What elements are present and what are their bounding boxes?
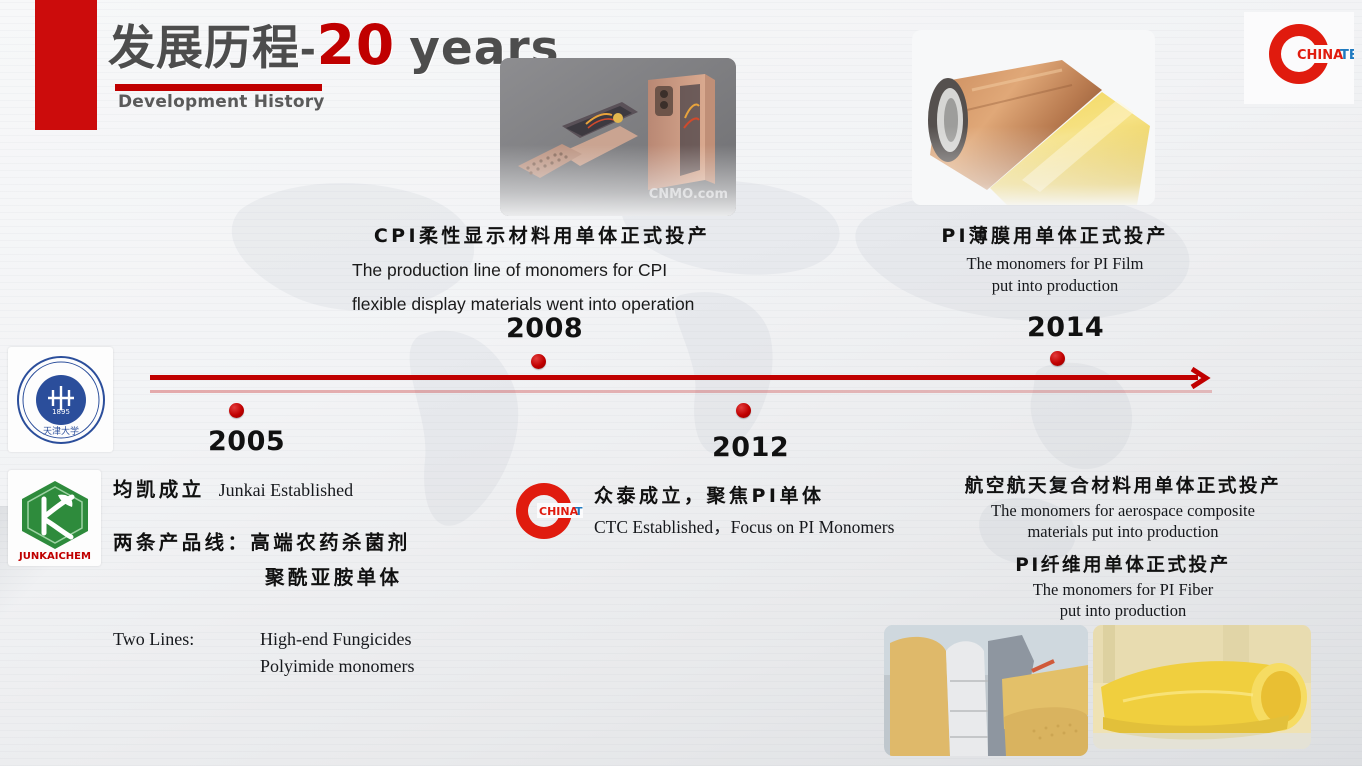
picture-foldable-device: CNMO.com [500,58,736,216]
svg-text:TECH: TECH [1340,48,1354,63]
event-2005-title-en: Junkai Established [219,480,353,501]
arrow-right-icon [1190,367,1216,389]
timeline-dot-2014 [1050,351,1065,366]
picture-fade-overlay [912,30,1155,205]
timeline-dot-2012 [736,403,751,418]
event-2005-line2-zh: 聚酰亚胺单体 [265,566,402,589]
timeline-year-2005: 2005 [208,426,285,457]
tju-seal-zh: 天津大学 [42,425,78,437]
event-2005-title-zh: 均凯成立 [113,473,205,502]
page-title: 发展历程-20 years [108,9,560,78]
event-2014-desc-line2: put into production [905,276,1205,296]
event-2005-line1-en: High-end Fungicides [260,629,411,650]
picture-aerospace-rocket [884,625,1088,756]
svg-text:CHINA: CHINA [539,505,579,518]
page-title-number: 20 [317,13,396,77]
event-block-2005: 均凯成立 Junkai Established 两条产品线： 高端农药杀菌剂 聚… [113,473,543,677]
event-block-2012: 众泰成立，聚焦PI单体 CTC Established，Focus on PI … [594,481,944,539]
svg-text:TECH: TECH [575,505,583,518]
event-block-2008: CPI柔性显示材料用单体正式投产 The production line of … [352,221,732,315]
event-pifiber-desc-line2: put into production [928,601,1318,621]
event-pifiber-title-zh: PI纤维用单体正式投产 [928,551,1318,577]
event-2005-line1-zh: 高端农药杀菌剂 [250,526,410,555]
event-aerospace-title-zh: 航空航天复合材料用单体正式投产 [928,472,1318,498]
svg-text:CHINA: CHINA [1297,48,1343,63]
event-2012-title-en: CTC Established，Focus on PI Monomers [594,514,944,539]
chinatech-logo-corner: CHINA TECH [1244,12,1354,104]
timeline-year-2008: 2008 [506,313,583,344]
tju-seal-icon: 1895 天津大学 [15,354,107,446]
timeline-dot-2008 [531,354,546,369]
event-2012-title-zh: 众泰成立，聚焦PI单体 [594,481,944,508]
timeline-axis [150,366,1235,394]
title-underline-rule [115,84,322,91]
picture-pi-film-roll [912,30,1155,205]
tju-seal-year: 1895 [52,408,70,416]
event-2005-lines-label-en: Two Lines: [113,629,260,650]
event-aerospace-desc-line2: materials put into production [928,522,1318,542]
timeline-year-2014: 2014 [1027,312,1104,343]
event-2014-desc-line1: The monomers for PI Film [905,254,1205,274]
event-block-2014: PI薄膜用单体正式投产 The monomers for PI Film put… [905,221,1205,296]
timeline-axis-reflection [150,390,1212,393]
picture-fade-overlay [500,58,736,216]
junkaichem-logo: JUNKAICHEM [8,470,101,566]
header-red-accent-block [35,0,97,130]
timeline-dot-2005 [229,403,244,418]
chinatech-logo-2012: CHINA TECH [505,477,583,549]
page-title-zh: 发展历程- [108,21,317,74]
timeline-axis-line [150,375,1198,380]
event-2008-desc-line2: flexible display materials went into ope… [352,294,732,315]
event-2008-desc-line1: The production line of monomers for CPI [352,260,732,281]
junkai-hexagon-icon: JUNKAICHEM [14,475,96,561]
event-2008-title-zh: CPI柔性显示材料用单体正式投产 [352,221,732,248]
event-2005-lines-label-zh: 两条产品线： [113,526,250,555]
event-2014-title-zh: PI薄膜用单体正式投产 [905,221,1205,248]
event-aerospace-desc-line1: The monomers for aerospace composite [928,501,1318,521]
junkaichem-wordmark: JUNKAICHEM [18,551,91,561]
event-block-aerospace-and-fiber: 航空航天复合材料用单体正式投产 The monomers for aerospa… [928,472,1318,621]
tianjin-university-logo: 1895 天津大学 [8,347,113,452]
event-2005-line2-en: Polyimide monomers [260,656,415,676]
slide-canvas: 发展历程-20 years Development History CHINA … [0,0,1362,766]
event-pifiber-desc-line1: The monomers for PI Fiber [928,580,1318,600]
picture-pi-fiber-fabric [1093,625,1311,749]
timeline-year-2012: 2012 [712,432,789,463]
page-subtitle: Development History [118,92,325,112]
